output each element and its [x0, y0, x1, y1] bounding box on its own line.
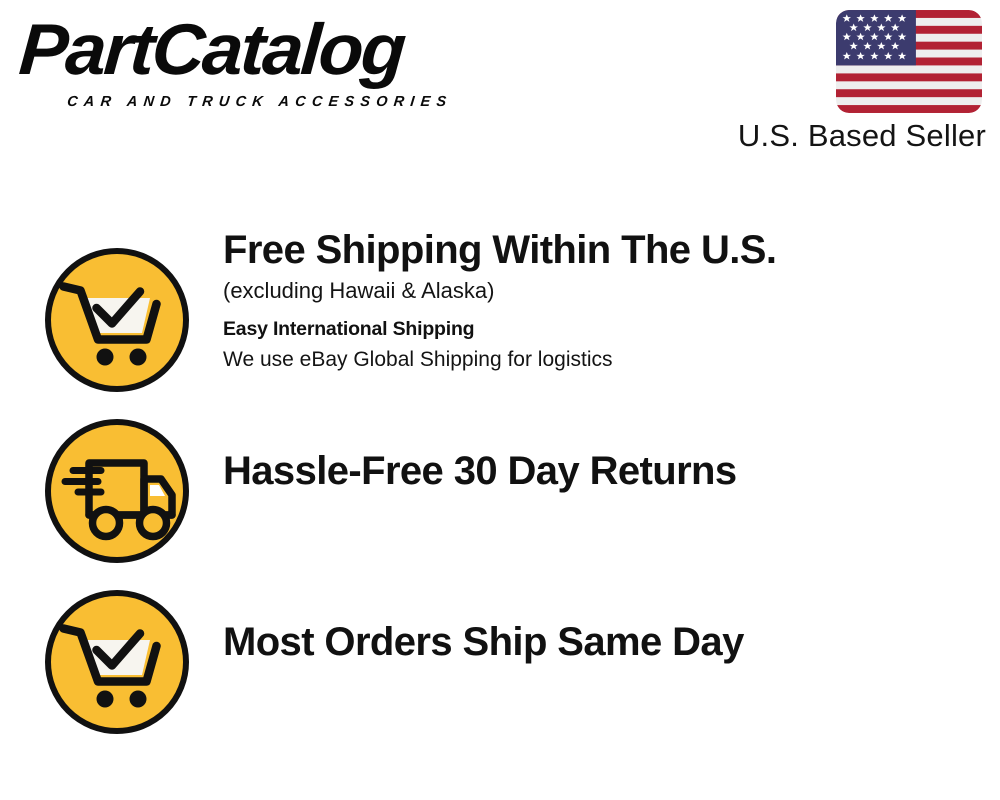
feature-heading: Hassle-Free 30 Day Returns [223, 449, 990, 494]
us-based-seller-block: U.S. Based Seller [716, 10, 986, 153]
feature-heading: Free Shipping Within The U.S. [223, 228, 990, 273]
brand-tagline: CAR AND TRUCK ACCESSORIES [66, 94, 453, 110]
features-list: Free Shipping Within The U.S. (excluding… [0, 228, 1000, 741]
feature-subtext-strong: Easy International Shipping [223, 318, 990, 341]
feature-row-returns: Hassle-Free 30 Day Returns [0, 399, 1000, 570]
feature-heading: Most Orders Ship Same Day [223, 620, 990, 665]
us-flag-icon [836, 10, 982, 113]
brand-wordmark: PartCatalog [17, 14, 406, 86]
feature-row-free-shipping: Free Shipping Within The U.S. (excluding… [0, 228, 1000, 399]
feature-subtext-detail: We use eBay Global Shipping for logistic… [223, 347, 990, 373]
delivery-truck-icon [43, 417, 191, 565]
feature-row-same-day-ship: Most Orders Ship Same Day [0, 570, 1000, 741]
feature-text-same-day-ship: Most Orders Ship Same Day [223, 620, 990, 665]
feature-text-free-shipping: Free Shipping Within The U.S. (excluding… [223, 228, 990, 373]
us-based-seller-label: U.S. Based Seller [716, 119, 986, 153]
header-bar: PartCatalog CAR AND TRUCK ACCESSORIES [0, 0, 1000, 180]
shopping-cart-check-icon [43, 246, 191, 394]
feature-subtext: (excluding Hawaii & Alaska) [223, 277, 990, 305]
part-catalog-logo[interactable]: PartCatalog CAR AND TRUCK ACCESSORIES [22, 20, 492, 120]
shopping-cart-check-icon [43, 588, 191, 736]
feature-text-returns: Hassle-Free 30 Day Returns [223, 449, 990, 494]
